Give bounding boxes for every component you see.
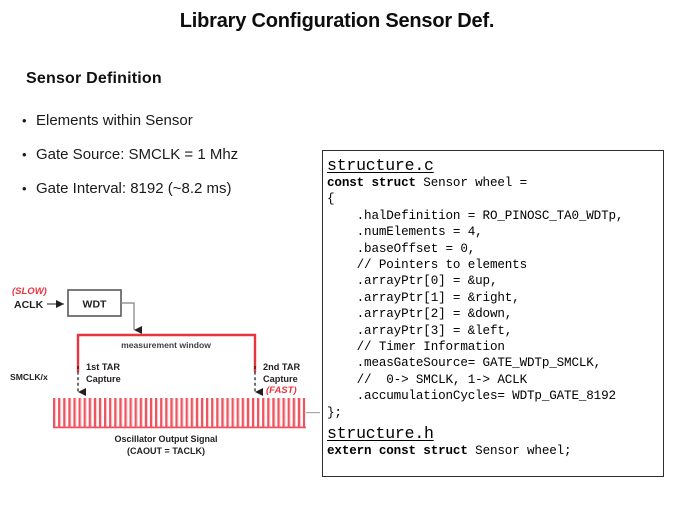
code-line: };: [327, 405, 663, 421]
oscillator-label-line1: Oscillator Output Signal: [114, 434, 217, 444]
code-line: extern const struct Sensor wheel;: [327, 443, 663, 459]
fast-label: (FAST): [266, 385, 297, 396]
code-text: Sensor wheel =: [416, 176, 527, 190]
list-item-label: Gate Interval: 8192 (~8.2 ms): [36, 180, 232, 197]
code-text: .arrayPtr[0] = &up,: [327, 274, 497, 288]
bullet-marker-icon: •: [22, 148, 36, 161]
list-item: • Elements within Sensor: [22, 112, 193, 129]
code-line: .arrayPtr[0] = &up,: [327, 273, 663, 289]
oscillator-waveform: [53, 398, 320, 428]
aclk-label: ACLK: [14, 299, 44, 311]
oscillator-label-line2: (CAOUT = TACLK): [127, 446, 205, 456]
code-text: .baseOffset = 0,: [327, 242, 475, 256]
code-line: {: [327, 191, 663, 207]
slide-canvas: Library Configuration Sensor Def. Sensor…: [0, 0, 674, 506]
code-line: .baseOffset = 0,: [327, 241, 663, 257]
code-line: .measGateSource= GATE_WDTp_SMCLK,: [327, 355, 663, 371]
code-line: .arrayPtr[2] = &down,: [327, 306, 663, 322]
slow-label: (SLOW): [12, 286, 47, 297]
code-text: .accumulationCycles= WDTp_GATE_8192: [327, 389, 616, 403]
list-item-label: Elements within Sensor: [36, 112, 193, 129]
bullet-marker-icon: •: [22, 114, 36, 127]
smclk-label: SMCLK/x: [10, 372, 48, 382]
code-text: .numElements = 4,: [327, 225, 483, 239]
code-filename-c: structure.c: [327, 156, 663, 175]
timing-diagram: (SLOW) ACLK WDT measurement window 1st T…: [0, 262, 320, 482]
list-item: • Gate Source: SMCLK = 1 Mhz: [22, 146, 238, 163]
code-text: // Pointers to elements: [327, 258, 527, 272]
wdt-label: WDT: [83, 299, 107, 311]
code-text: };: [327, 406, 342, 420]
code-panel: structure.c const struct Sensor wheel = …: [322, 150, 664, 477]
code-text: .arrayPtr[1] = &right,: [327, 291, 520, 305]
code-text: Sensor wheel;: [468, 444, 572, 458]
code-line: .arrayPtr[3] = &left,: [327, 323, 663, 339]
second-capture-label-line2: Capture: [263, 374, 298, 384]
code-filename-h: structure.h: [327, 424, 663, 443]
code-keyword: const struct: [327, 176, 416, 190]
code-line: .accumulationCycles= WDTp_GATE_8192: [327, 388, 663, 404]
code-line: .arrayPtr[1] = &right,: [327, 290, 663, 306]
code-line: .halDefinition = RO_PINOSC_TA0_WDTp,: [327, 208, 663, 224]
wdt-connector: [121, 303, 134, 330]
code-line: .numElements = 4,: [327, 224, 663, 240]
list-item: • Gate Interval: 8192 (~8.2 ms): [22, 180, 232, 197]
code-text: // Timer Information: [327, 340, 505, 354]
measurement-window-label: measurement window: [121, 340, 211, 350]
code-keyword: extern const struct: [327, 444, 468, 458]
code-text: .halDefinition = RO_PINOSC_TA0_WDTp,: [327, 209, 623, 223]
code-comment-line: // 0-> SMCLK, 1-> ACLK: [327, 372, 663, 388]
code-comment-line: // Timer Information: [327, 339, 663, 355]
code-text: // 0-> SMCLK, 1-> ACLK: [327, 373, 527, 387]
code-line: const struct Sensor wheel =: [327, 175, 663, 191]
code-text: {: [327, 192, 334, 206]
code-text: .arrayPtr[2] = &down,: [327, 307, 512, 321]
code-text: .arrayPtr[3] = &left,: [327, 324, 512, 338]
bullet-marker-icon: •: [22, 182, 36, 195]
page-title: Library Configuration Sensor Def.: [0, 10, 674, 33]
section-heading: Sensor Definition: [26, 70, 162, 88]
first-capture-label-line1: 1st TAR: [86, 362, 120, 372]
code-text: .measGateSource= GATE_WDTp_SMCLK,: [327, 356, 601, 370]
second-capture-label-line1: 2nd TAR: [263, 362, 300, 372]
first-capture-label-line2: Capture: [86, 374, 121, 384]
code-comment-line: // Pointers to elements: [327, 257, 663, 273]
list-item-label: Gate Source: SMCLK = 1 Mhz: [36, 146, 238, 163]
